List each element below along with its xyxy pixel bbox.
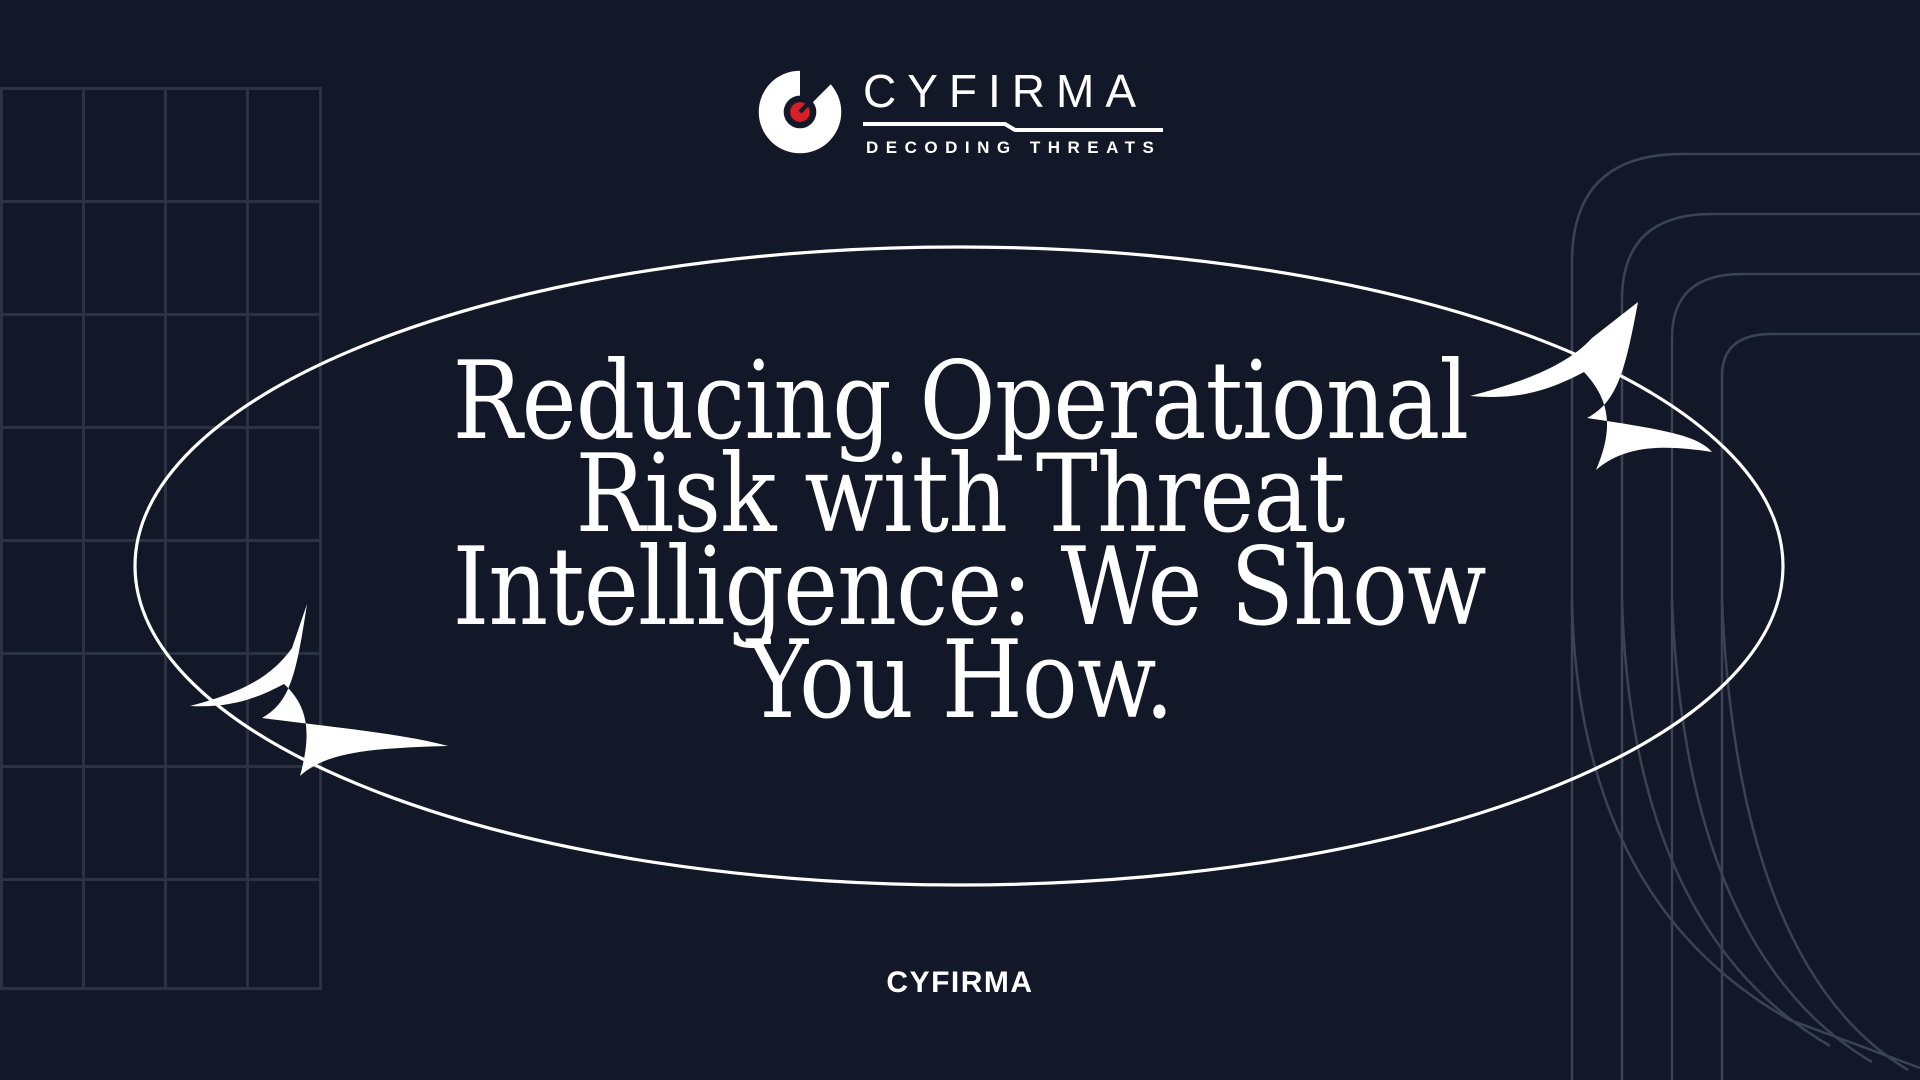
slide-canvas: CYFIRMA DECODING THREATS Reducing Operat… [0,0,1920,1080]
logo-tagline: DECODING THREATS [863,134,1163,156]
logo-text-block: CYFIRMA DECODING THREATS [863,68,1163,156]
target-disc-icon [757,69,843,155]
logo-divider-rule [863,120,1163,134]
brand-logo: CYFIRMA DECODING THREATS [757,68,1163,156]
grid-panel [0,87,322,990]
footer-brand: CYFIRMA [886,966,1033,1000]
page-title: Reducing Operational Risk with Threat In… [370,356,1550,728]
title-line-4: You How. [453,635,1468,728]
logo-wordmark: CYFIRMA [863,68,1163,120]
